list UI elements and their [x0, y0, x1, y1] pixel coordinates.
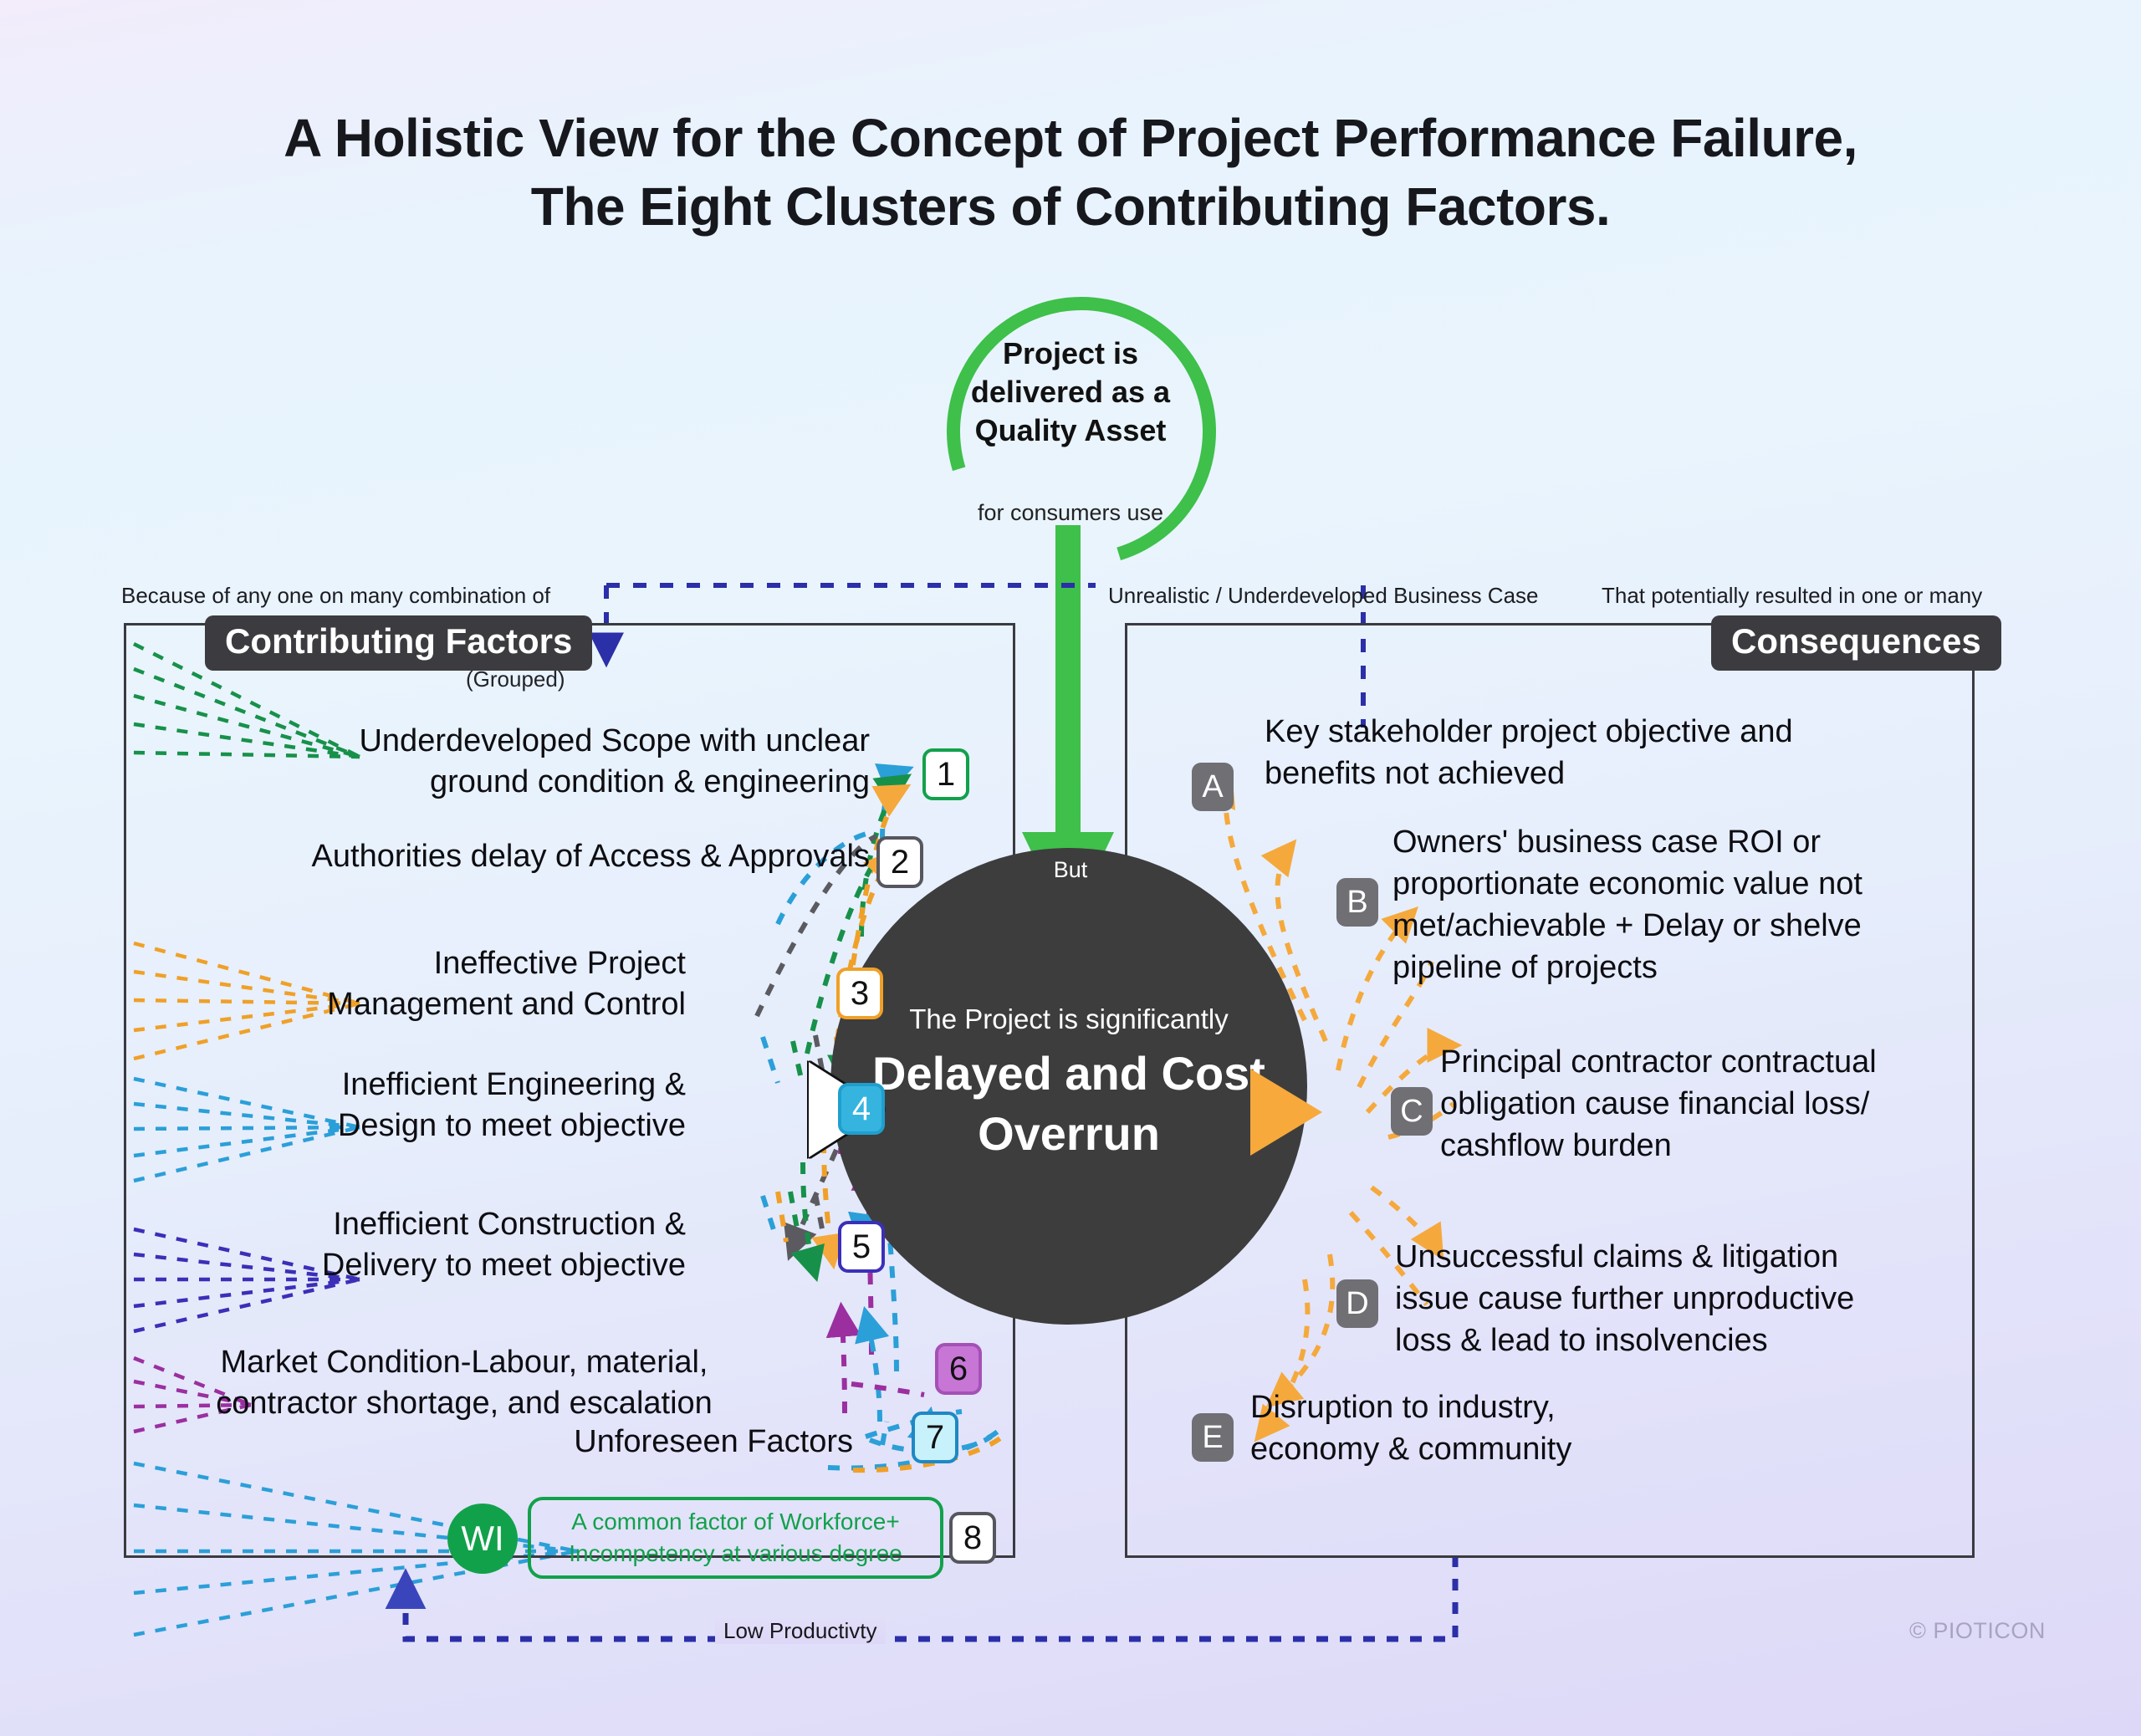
factor-text-4: Inefficient Engineering & Design to meet… — [251, 1065, 686, 1147]
factor-badge-4[interactable]: 4 — [838, 1083, 885, 1135]
factor-text-6: Market Condition-Labour, material, contr… — [163, 1342, 765, 1425]
consequence-text-b: Owners' business case ROI or proportiona… — [1392, 821, 2078, 989]
workforce-incompetency-icon: WI — [447, 1504, 518, 1574]
but-label: But — [1020, 857, 1121, 883]
business-case-note: Unrealistic / Underdeveloped Business Ca… — [1108, 583, 1539, 609]
consequence-badge-d[interactable]: D — [1336, 1279, 1378, 1328]
factor-badge-6[interactable]: 6 — [935, 1343, 982, 1395]
factor-text-5: Inefficient Construction & Delivery to m… — [251, 1204, 686, 1287]
factor-badge-5[interactable]: 5 — [838, 1221, 885, 1273]
factor-text-7: Unforeseen Factors — [485, 1422, 853, 1463]
hub-lead-text: The Project is significantly — [830, 1003, 1307, 1035]
factor-text-3: Ineffective Project Management and Contr… — [251, 943, 686, 1026]
factor-text-8: A common factor of Workforce+ Incompeten… — [528, 1497, 943, 1579]
grouped-note: (Grouped) — [466, 666, 565, 692]
factor-text-2: Authorities delay of Access & Approvals — [125, 836, 870, 877]
consequence-text-c: Principal contractor contractual obligat… — [1440, 1041, 2101, 1167]
consequence-text-a: Key stakeholder project objective and be… — [1265, 711, 1925, 794]
consequence-badge-a[interactable]: A — [1192, 763, 1234, 811]
contributing-factors-tag: Contributing Factors — [205, 615, 592, 671]
consequence-text-d: Unsuccessful claims & litigation issue c… — [1395, 1236, 2056, 1361]
consumers-use-label: for consumers use — [920, 500, 1221, 526]
right-panel-note: That potentially resulted in one or many — [1602, 583, 1982, 609]
outflow-triangle-icon — [1250, 1069, 1322, 1156]
watermark: © PIOTICON — [1909, 1618, 2046, 1644]
quality-asset-label: Project is delivered as a Quality Asset — [937, 334, 1204, 450]
factor-badge-7[interactable]: 7 — [912, 1412, 958, 1463]
title-line-2: The Eight Clusters of Contributing Facto… — [0, 173, 2141, 242]
consequence-badge-b[interactable]: B — [1336, 878, 1378, 927]
hub-main-text: Delayed and Cost Overrun — [830, 1044, 1307, 1163]
title-line-1: A Holistic View for the Concept of Proje… — [284, 108, 1857, 168]
consequences-tag: Consequences — [1711, 615, 2001, 671]
factor-text-1: Underdeveloped Scope with unclear ground… — [251, 721, 870, 804]
factor-badge-1[interactable]: 1 — [922, 748, 969, 800]
page-title: A Holistic View for the Concept of Proje… — [0, 105, 2141, 242]
consequence-badge-c[interactable]: C — [1391, 1087, 1433, 1136]
factor-badge-3[interactable]: 3 — [836, 968, 883, 1019]
consequence-badge-e[interactable]: E — [1192, 1413, 1234, 1462]
factor-badge-2[interactable]: 2 — [876, 836, 923, 888]
factor-badge-8[interactable]: 8 — [949, 1512, 996, 1564]
diagram-canvas: A Holistic View for the Concept of Proje… — [0, 0, 2141, 1736]
consequence-text-e: Disruption to industry, economy & commun… — [1250, 1386, 1786, 1470]
low-productivity-label: Low Productivty — [715, 1618, 886, 1644]
left-panel-note: Because of any one on many combination o… — [121, 583, 550, 609]
